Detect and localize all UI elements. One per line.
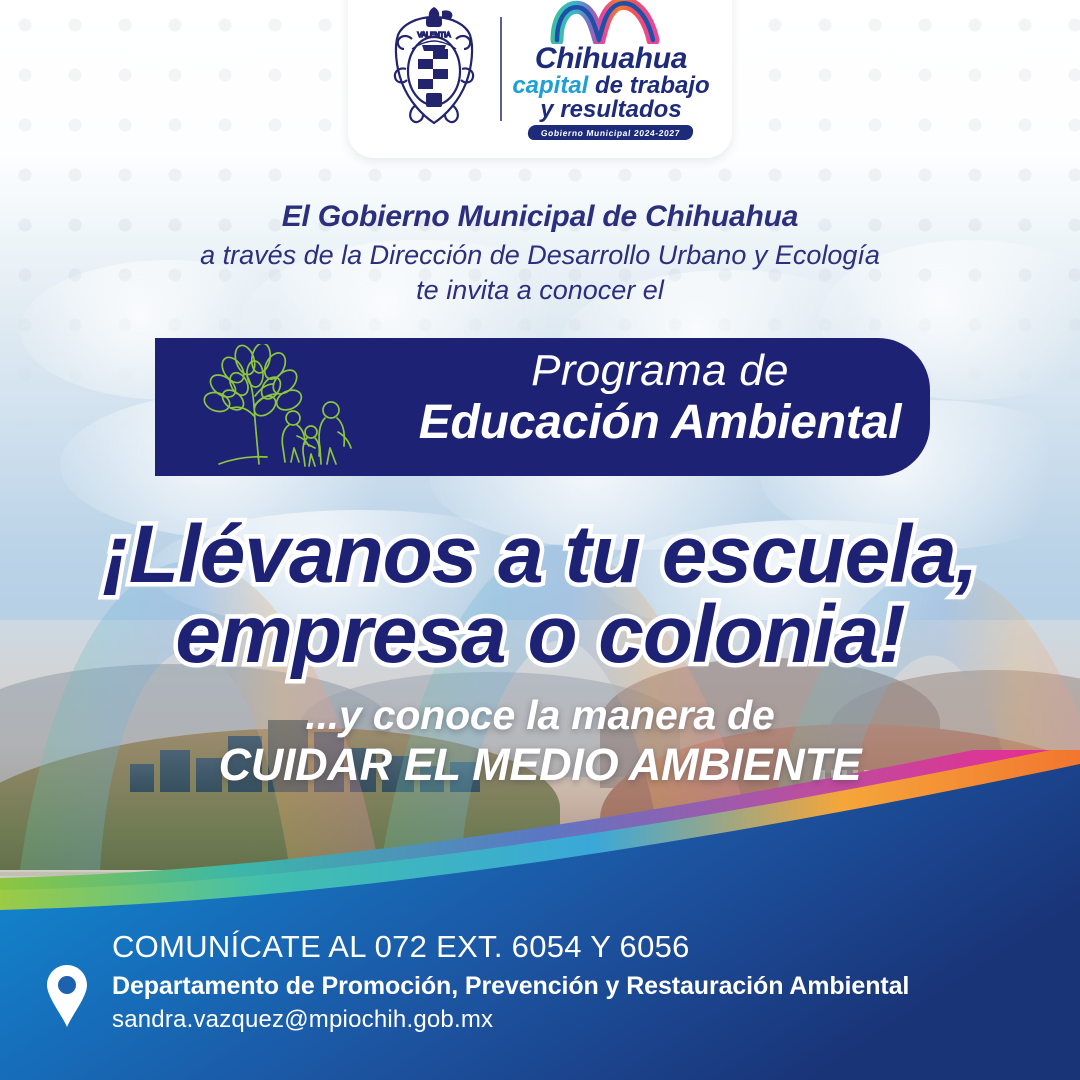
headline-line-1: ¡Llévanos a tu escuela, — [0, 515, 1080, 595]
contact-block: COMUNÍCATE AL 072 EXT. 6054 Y 6056 Depar… — [112, 928, 1052, 1035]
department-name: Departamento de Promoción, Prevención y … — [112, 970, 1052, 1003]
phone-line: COMUNÍCATE AL 072 EXT. 6054 Y 6056 — [112, 928, 1052, 967]
banner-text: Programa de Educación Ambiental — [405, 346, 915, 449]
intro-line-3: te invita a conocer el — [0, 273, 1080, 308]
brand-lockup: Chihuahua capital de trabajo y resultado… — [516, 0, 706, 140]
location-pin-icon — [44, 963, 90, 1029]
intro-text: El Gobierno Municipal de Chihuahua a tra… — [0, 198, 1080, 309]
poster: VALENTIA — [0, 0, 1080, 1080]
coat-of-arms-icon: VALENTIA — [382, 5, 486, 133]
brand-line-2: capital de trabajo — [512, 74, 709, 98]
banner-line-1: Programa de — [405, 346, 915, 397]
government-logo-card: VALENTIA — [348, 0, 732, 158]
subheadline-line-2: CUIDAR EL MEDIO AMBIENTE — [0, 740, 1080, 790]
subheadline-line-1: ...y conoce la manera de — [0, 693, 1080, 738]
brand-accent-word: capital — [512, 72, 588, 99]
email-address[interactable]: sandra.vazquez@mpiochih.gob.mx — [112, 1004, 1052, 1035]
intro-line-1: El Gobierno Municipal de Chihuahua — [0, 198, 1080, 236]
chihuahua-m-icon — [549, 0, 673, 44]
tree-with-family-icon — [197, 344, 362, 472]
program-banner: Programa de Educación Ambiental — [155, 338, 930, 476]
logo-divider — [500, 17, 502, 121]
brand-line-2-rest: de trabajo — [588, 72, 709, 99]
headline-line-2: empresa o colonia! — [0, 595, 1080, 675]
brand-line-1: Chihuahua — [535, 45, 687, 74]
headline: ¡Llévanos a tu escuela, empresa o coloni… — [0, 515, 1080, 674]
banner-line-2: Educación Ambiental — [405, 397, 915, 450]
svg-text:VALENTIA: VALENTIA — [417, 32, 451, 39]
subheadline: ...y conoce la manera de CUIDAR EL MEDIO… — [0, 693, 1080, 790]
brand-tagline: Gobierno Municipal 2024-2027 — [528, 125, 695, 140]
brand-line-3: y resultados — [540, 98, 681, 122]
intro-line-2: a través de la Dirección de Desarrollo U… — [0, 238, 1080, 273]
